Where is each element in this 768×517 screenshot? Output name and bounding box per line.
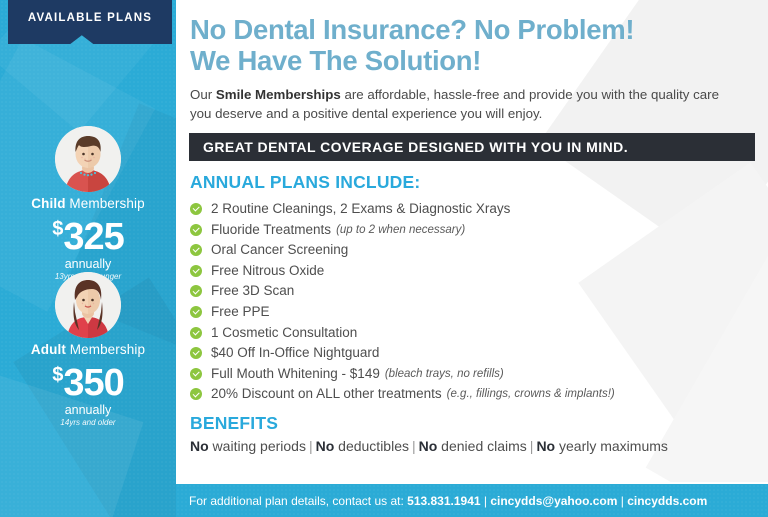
plan-title-rest-child: Membership	[66, 196, 145, 211]
annual-plans-heading: ANNUAL PLANS INCLUDE:	[190, 172, 420, 193]
benefits-summary: No waiting periods|No deductibles|No den…	[190, 438, 668, 454]
benefit-separator: |	[309, 438, 313, 454]
feature-text: Free PPE	[211, 302, 270, 323]
subhead-pre: Our	[190, 87, 216, 102]
headline-line-1: No Dental Insurance? No Problem!	[190, 14, 750, 45]
footer-contact-text: For additional plan details, contact us …	[176, 494, 707, 508]
features-list: 2 Routine Cleanings, 2 Exams & Diagnosti…	[190, 199, 750, 405]
membership-plans-poster: AVAILABLE PLANS	[0, 0, 768, 517]
list-item: Free Nitrous Oxide	[190, 261, 750, 282]
list-item: $40 Off In-Office Nightguard	[190, 343, 750, 364]
feature-text: Full Mouth Whitening - $149	[211, 364, 380, 385]
feature-text: 2 Routine Cleanings, 2 Exams & Diagnosti…	[211, 199, 510, 220]
headline-line-2: We Have The Solution!	[190, 45, 750, 76]
list-item: Free 3D Scan	[190, 281, 750, 302]
check-circle-icon	[190, 224, 202, 236]
list-item: 1 Cosmetic Consultation	[190, 323, 750, 344]
check-circle-icon	[190, 285, 202, 297]
plan-card-child[interactable]: Child Membership $325 annually 13yrs and…	[0, 126, 176, 281]
subhead-bold: Smile Memberships	[216, 87, 341, 102]
benefit-bold-1: No	[316, 438, 335, 454]
list-item: 20% Discount on ALL other treatments(e.g…	[190, 384, 750, 405]
list-item: Free PPE	[190, 302, 750, 323]
footer-phone[interactable]: 513.831.1941	[407, 494, 480, 508]
list-item: Oral Cancer Screening	[190, 240, 750, 261]
check-circle-icon	[190, 203, 202, 215]
footer-separator-2: |	[617, 494, 627, 508]
footer-separator-1: |	[481, 494, 491, 508]
plan-price-adult: $350	[0, 358, 176, 400]
plan-audience-child: Child	[31, 196, 65, 211]
plan-title-adult: Adult Membership	[0, 342, 176, 357]
benefit-rest-3: yearly maximums	[555, 438, 668, 454]
check-circle-icon	[190, 368, 202, 380]
plan-currency-adult: $	[52, 364, 62, 386]
benefit-rest-0: waiting periods	[209, 438, 306, 454]
feature-text: Fluoride Treatments	[211, 220, 331, 241]
subheadline: Our Smile Memberships are affordable, ha…	[190, 86, 742, 123]
child-avatar-icon	[55, 126, 121, 192]
check-circle-icon	[190, 265, 202, 277]
check-circle-icon	[190, 388, 202, 400]
plan-currency-child: $	[52, 218, 62, 240]
plan-amount-adult: 350	[63, 362, 123, 404]
benefit-separator: |	[412, 438, 416, 454]
check-circle-icon	[190, 306, 202, 318]
coverage-banner-text: GREAT DENTAL COVERAGE DESIGNED WITH YOU …	[189, 139, 628, 155]
feature-text: Free Nitrous Oxide	[211, 261, 324, 282]
plan-period-child: annually	[0, 257, 176, 271]
feature-text: 1 Cosmetic Consultation	[211, 323, 357, 344]
benefit-rest-2: denied claims	[437, 438, 527, 454]
check-circle-icon	[190, 244, 202, 256]
available-plans-badge: AVAILABLE PLANS	[8, 0, 172, 44]
feature-text: 20% Discount on ALL other treatments	[211, 384, 442, 405]
feature-text: $40 Off In-Office Nightguard	[211, 343, 379, 364]
feature-note: (e.g., fillings, crowns & implants!)	[447, 384, 615, 405]
page-title: No Dental Insurance? No Problem! We Have…	[190, 14, 750, 76]
feature-text: Oral Cancer Screening	[211, 240, 348, 261]
benefit-bold-0: No	[190, 438, 209, 454]
benefit-bold-2: No	[419, 438, 438, 454]
coverage-banner: GREAT DENTAL COVERAGE DESIGNED WITH YOU …	[189, 133, 755, 161]
main-content-panel: No Dental Insurance? No Problem! We Have…	[176, 0, 768, 482]
plan-age-note-adult: 14yrs and older	[0, 418, 176, 427]
benefits-heading: BENEFITS	[190, 413, 278, 434]
benefit-separator: |	[530, 438, 534, 454]
footer-email[interactable]: cincydds@yahoo.com	[490, 494, 617, 508]
contact-footer-bar: For additional plan details, contact us …	[176, 484, 768, 517]
benefit-rest-1: deductibles	[334, 438, 409, 454]
plan-audience-adult: Adult	[31, 342, 66, 357]
plan-title-rest-adult: Membership	[66, 342, 145, 357]
list-item: 2 Routine Cleanings, 2 Exams & Diagnosti…	[190, 199, 750, 220]
plan-price-child: $325	[0, 212, 176, 254]
feature-note: (bleach trays, no refills)	[385, 364, 504, 385]
footer-website[interactable]: cincydds.com	[627, 494, 707, 508]
check-circle-icon	[190, 327, 202, 339]
plan-title-child: Child Membership	[0, 196, 176, 211]
list-item: Full Mouth Whitening - $149(bleach trays…	[190, 364, 750, 385]
plan-amount-child: 325	[63, 216, 123, 258]
benefit-bold-3: No	[536, 438, 555, 454]
available-plans-badge-label: AVAILABLE PLANS	[28, 12, 152, 24]
plan-card-adult[interactable]: Adult Membership $350 annually 14yrs and…	[0, 272, 176, 427]
adult-avatar-icon	[55, 272, 121, 338]
plan-period-adult: annually	[0, 403, 176, 417]
footer-lead: For additional plan details, contact us …	[189, 494, 407, 508]
feature-text: Free 3D Scan	[211, 281, 294, 302]
feature-note: (up to 2 when necessary)	[336, 220, 465, 241]
check-circle-icon	[190, 347, 202, 359]
list-item: Fluoride Treatments(up to 2 when necessa…	[190, 220, 750, 241]
